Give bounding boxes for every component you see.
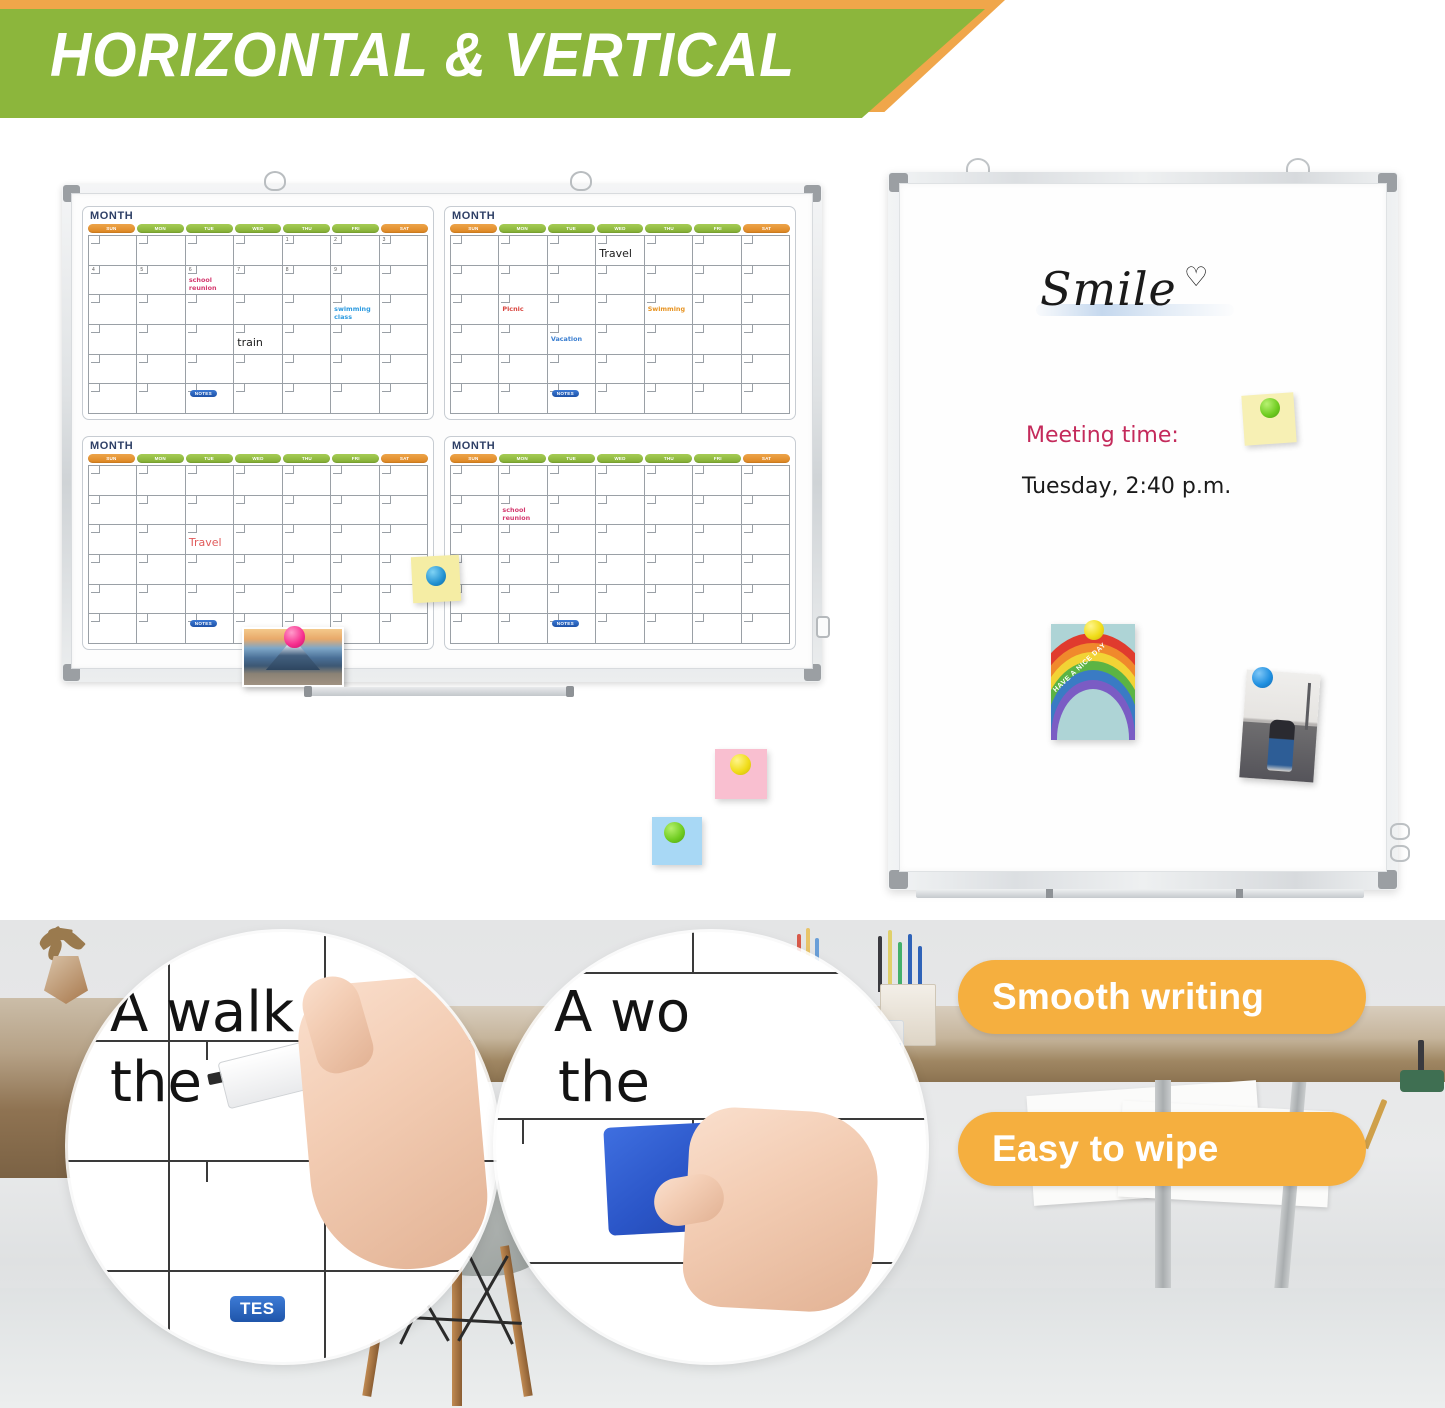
- date-number: [333, 325, 342, 333]
- date-number: 8: [285, 266, 294, 274]
- date-number: [91, 585, 100, 593]
- date-number: [139, 496, 148, 504]
- calendar-cell[interactable]: [645, 236, 693, 266]
- calendar-cell[interactable]: [742, 555, 790, 585]
- date-number: [550, 585, 559, 593]
- date-number: [647, 496, 656, 504]
- calendar-cell[interactable]: [380, 266, 428, 296]
- calendar-cell[interactable]: [331, 384, 379, 414]
- date-number: [285, 555, 294, 563]
- day-pill-wed: WED: [235, 454, 282, 463]
- date-number: [550, 555, 559, 563]
- day-pill-thu: THU: [283, 224, 330, 233]
- calendar-cell[interactable]: [548, 295, 596, 325]
- calendar-cell[interactable]: [693, 325, 741, 355]
- calendar-cell[interactable]: [331, 325, 379, 355]
- calendar-cell[interactable]: [596, 384, 644, 414]
- calendar-cell[interactable]: [380, 355, 428, 385]
- date-number: [453, 496, 462, 504]
- note-meeting-label: Meeting time:: [1026, 423, 1179, 448]
- date-number: [382, 325, 391, 333]
- calendar-grid: school reunion: [450, 465, 790, 644]
- day-pill-thu: THU: [645, 454, 692, 463]
- day-header-row: SUNMONTUEWEDTHUFRISAT: [88, 224, 428, 233]
- date-number: 4: [91, 266, 100, 274]
- calendar-entry: Swimming: [648, 305, 690, 313]
- date-number: [501, 525, 510, 533]
- calendar-cell[interactable]: [693, 614, 741, 644]
- calendar-cell[interactable]: Swimming: [645, 295, 693, 325]
- calendar-cell[interactable]: [89, 355, 137, 385]
- calendar-cell[interactable]: [645, 325, 693, 355]
- calendar-cell[interactable]: [380, 325, 428, 355]
- calendar-cell[interactable]: [137, 466, 185, 496]
- magnet-blue: [426, 566, 446, 586]
- cal-bottom-right: MONTHSUNMONTUEWEDTHUFRISATschool reunion…: [444, 436, 796, 650]
- calendar-cell[interactable]: [137, 614, 185, 644]
- day-pill-sun: SUN: [88, 454, 135, 463]
- calendar-cell[interactable]: [380, 525, 428, 555]
- pen-tray: [310, 687, 568, 696]
- calendar-cell[interactable]: [186, 496, 234, 526]
- date-number: [453, 236, 462, 244]
- calendar-cell[interactable]: [596, 525, 644, 555]
- calendar-cell[interactable]: [331, 585, 379, 615]
- calendar-cell[interactable]: [234, 555, 282, 585]
- day-pill-sun: SUN: [450, 454, 497, 463]
- grid-tick: [168, 1160, 208, 1162]
- day-pill-tue: TUE: [186, 454, 233, 463]
- magnet-green: [664, 822, 685, 843]
- calendar-cell[interactable]: [89, 236, 137, 266]
- calendar-cell[interactable]: [186, 555, 234, 585]
- date-number: [91, 496, 100, 504]
- badge-smooth-writing: Smooth writing: [958, 960, 1366, 1034]
- date-number: [333, 295, 342, 303]
- calendar-cell[interactable]: [451, 236, 499, 266]
- day-pill-fri: FRI: [332, 454, 379, 463]
- calendar-cell[interactable]: [89, 525, 137, 555]
- calendar-cell[interactable]: [596, 295, 644, 325]
- vb-pen-tray: [916, 889, 1364, 898]
- date-number: [91, 236, 100, 244]
- pen: [888, 930, 892, 992]
- calendar-cell[interactable]: [451, 355, 499, 385]
- calendar-cell[interactable]: [380, 466, 428, 496]
- calendar-cell[interactable]: Vacation: [548, 325, 596, 355]
- date-number: [236, 525, 245, 533]
- calendar-entry: Travel: [189, 537, 231, 549]
- date-number: [744, 555, 753, 563]
- calendar-cell[interactable]: [548, 585, 596, 615]
- date-number: [285, 384, 294, 392]
- handwriting-line-2: the: [110, 1050, 202, 1115]
- date-number: [598, 236, 607, 244]
- header-ribbon: HORIZONTAL & VERTICAL: [0, 0, 1100, 122]
- vb-side-ring-lower: [1390, 845, 1410, 862]
- date-number: [188, 525, 197, 533]
- date-number: [453, 295, 462, 303]
- calendar-cell[interactable]: [283, 466, 331, 496]
- date-number: [598, 466, 607, 474]
- date-number: [744, 266, 753, 274]
- date-number: [695, 384, 704, 392]
- badge-smooth-writing-label: Smooth writing: [992, 976, 1264, 1018]
- calendar-month-label: MONTH: [452, 440, 495, 452]
- calendar-cell[interactable]: [451, 266, 499, 296]
- day-pill-sat: SAT: [381, 224, 428, 233]
- calendar-cell[interactable]: [499, 355, 547, 385]
- date-number: 6: [188, 266, 197, 274]
- date-number: [382, 585, 391, 593]
- calendar-cell[interactable]: [596, 466, 644, 496]
- calendar-cell[interactable]: [693, 384, 741, 414]
- calendar-cell[interactable]: [548, 496, 596, 526]
- calendar-cell[interactable]: Travel: [186, 525, 234, 555]
- calendar-cell[interactable]: [645, 466, 693, 496]
- calendar-cell[interactable]: [645, 614, 693, 644]
- calendar-cell[interactable]: [234, 585, 282, 615]
- calendar-cell[interactable]: school reunion: [499, 496, 547, 526]
- calendar-cell[interactable]: [234, 295, 282, 325]
- date-number: [285, 325, 294, 333]
- date-number: [453, 355, 462, 363]
- calendar-cell[interactable]: [742, 325, 790, 355]
- floor-lamp: [1305, 682, 1311, 730]
- calendar-cell[interactable]: [283, 496, 331, 526]
- calendar-cell[interactable]: [548, 555, 596, 585]
- calendar-cell[interactable]: [186, 466, 234, 496]
- date-number: [501, 325, 510, 333]
- day-pill-wed: WED: [597, 224, 644, 233]
- date-number: [501, 266, 510, 274]
- calendar-cell[interactable]: [451, 384, 499, 414]
- calendar-cell[interactable]: 4: [89, 266, 137, 296]
- date-number: [598, 585, 607, 593]
- calendar-cell[interactable]: Travel: [596, 236, 644, 266]
- calendar-cell[interactable]: [234, 496, 282, 526]
- calendar-cell[interactable]: [499, 555, 547, 585]
- calendar-cell[interactable]: [89, 384, 137, 414]
- calendar-cell[interactable]: [89, 555, 137, 585]
- calendar-cell[interactable]: [499, 384, 547, 414]
- calendar-cell[interactable]: [89, 585, 137, 615]
- day-pill-tue: TUE: [186, 224, 233, 233]
- date-number: [744, 355, 753, 363]
- date-number: [744, 614, 753, 622]
- date-number: [333, 496, 342, 504]
- calendar-cell[interactable]: [645, 525, 693, 555]
- date-number: 9: [333, 266, 342, 274]
- calendar-cell[interactable]: [234, 466, 282, 496]
- calendar-cell[interactable]: [451, 496, 499, 526]
- calendar-cell[interactable]: [331, 525, 379, 555]
- date-number: [333, 466, 342, 474]
- calendar-cell[interactable]: [186, 384, 234, 414]
- day-pill-mon: MON: [499, 454, 546, 463]
- calendar-cell[interactable]: [742, 355, 790, 385]
- calendar-cell[interactable]: [283, 555, 331, 585]
- calendar-cell[interactable]: [186, 585, 234, 615]
- calendar-cell[interactable]: 8: [283, 266, 331, 296]
- date-number: [744, 295, 753, 303]
- grid-line: [692, 932, 694, 974]
- day-pill-sun: SUN: [88, 224, 135, 233]
- date-number: [236, 355, 245, 363]
- calendar-entry: Travel: [599, 248, 641, 260]
- date-number: [453, 466, 462, 474]
- calendar-cell[interactable]: [548, 266, 596, 296]
- calendar-cell[interactable]: [693, 295, 741, 325]
- date-number: [695, 555, 704, 563]
- calendar-cell[interactable]: [693, 466, 741, 496]
- calendar-cell[interactable]: [742, 266, 790, 296]
- calendar-cell[interactable]: [693, 236, 741, 266]
- date-number: [744, 496, 753, 504]
- calendar-cell[interactable]: 2: [331, 236, 379, 266]
- calendar-cell[interactable]: [137, 355, 185, 385]
- calendar-cell[interactable]: [742, 295, 790, 325]
- calendar-cell[interactable]: [693, 355, 741, 385]
- date-number: [501, 614, 510, 622]
- date-number: [744, 585, 753, 593]
- date-number: [382, 555, 391, 563]
- calendar-cell[interactable]: [331, 555, 379, 585]
- date-number: [382, 355, 391, 363]
- calendar-cell[interactable]: [693, 266, 741, 296]
- calendar-cell[interactable]: [186, 325, 234, 355]
- calendar-cell[interactable]: [380, 496, 428, 526]
- calendar-cell[interactable]: [283, 585, 331, 615]
- calendar-cell[interactable]: [380, 384, 428, 414]
- calendar-cell[interactable]: [89, 295, 137, 325]
- date-number: [285, 295, 294, 303]
- calendar-cell[interactable]: [693, 585, 741, 615]
- calendar-cell[interactable]: [380, 295, 428, 325]
- calendar-grid: TravelPicnicSwimmingVacation: [450, 235, 790, 414]
- calendar-cell[interactable]: [548, 525, 596, 555]
- calendar-cell[interactable]: [283, 525, 331, 555]
- calendar-cell[interactable]: swimming class: [331, 295, 379, 325]
- calendar-cell[interactable]: [548, 614, 596, 644]
- calendar-cell[interactable]: [499, 525, 547, 555]
- day-pill-mon: MON: [499, 224, 546, 233]
- calendar-cell[interactable]: [89, 614, 137, 644]
- calendar-cell[interactable]: [451, 325, 499, 355]
- calendar-cell[interactable]: [451, 614, 499, 644]
- date-number: [501, 466, 510, 474]
- date-number: [453, 266, 462, 274]
- calendar-cell[interactable]: [186, 614, 234, 644]
- calendar-cell[interactable]: [234, 355, 282, 385]
- calendar-cell[interactable]: 3: [380, 236, 428, 266]
- date-number: [598, 555, 607, 563]
- calendar-cell[interactable]: [645, 355, 693, 385]
- day-pill-sat: SAT: [743, 224, 790, 233]
- calendar-cell[interactable]: 5: [137, 266, 185, 296]
- badge-easy-to-wipe: Easy to wipe: [958, 1112, 1366, 1186]
- grid-line: [496, 972, 926, 974]
- calendar-month-label: MONTH: [90, 210, 133, 222]
- calendar-cell[interactable]: [89, 496, 137, 526]
- calendar-cell[interactable]: [499, 614, 547, 644]
- calendar-cell[interactable]: [331, 466, 379, 496]
- date-number: [91, 555, 100, 563]
- calendar-cell[interactable]: [645, 496, 693, 526]
- calendar-cell[interactable]: [89, 466, 137, 496]
- calendar-cell[interactable]: [331, 355, 379, 385]
- badge-easy-to-wipe-label: Easy to wipe: [992, 1128, 1219, 1170]
- calendar-cell[interactable]: [234, 236, 282, 266]
- date-number: [695, 525, 704, 533]
- calendar-cell[interactable]: train: [234, 325, 282, 355]
- calendar-cell[interactable]: Picnic: [499, 295, 547, 325]
- calendar-cell[interactable]: [645, 585, 693, 615]
- calendar-cell[interactable]: [137, 496, 185, 526]
- calendar-cell[interactable]: [186, 236, 234, 266]
- calendar-cell[interactable]: [234, 525, 282, 555]
- calendar-cell[interactable]: 7: [234, 266, 282, 296]
- calendar-cell[interactable]: [742, 614, 790, 644]
- day-pill-sun: SUN: [450, 224, 497, 233]
- calendar-cell[interactable]: [137, 555, 185, 585]
- calendar-cell[interactable]: [548, 384, 596, 414]
- calendar-cell[interactable]: 9: [331, 266, 379, 296]
- date-number: 3: [382, 236, 391, 244]
- calendar-cell[interactable]: [380, 614, 428, 644]
- date-number: [139, 585, 148, 593]
- calendar-cell[interactable]: [693, 525, 741, 555]
- date-number: [598, 525, 607, 533]
- calendar-cell[interactable]: [693, 496, 741, 526]
- calendar-cell[interactable]: [742, 525, 790, 555]
- calendar-cell[interactable]: [283, 325, 331, 355]
- calendar-cell[interactable]: 1: [283, 236, 331, 266]
- date-number: [333, 355, 342, 363]
- date-number: 1: [285, 236, 294, 244]
- calendar-grid: Travel: [88, 465, 428, 644]
- calendar-cell[interactable]: [596, 266, 644, 296]
- calendar-cell[interactable]: [283, 384, 331, 414]
- calendar-cell[interactable]: [742, 466, 790, 496]
- day-header-row: SUNMONTUEWEDTHUFRISAT: [450, 454, 790, 463]
- calendar-entry: train: [237, 337, 279, 349]
- date-number: [744, 466, 753, 474]
- calendar-cell[interactable]: [548, 236, 596, 266]
- calendar-cell[interactable]: [742, 236, 790, 266]
- calendar-cell[interactable]: [186, 295, 234, 325]
- vb-side-ring-upper: [1390, 823, 1410, 840]
- date-number: [598, 355, 607, 363]
- day-pill-fri: FRI: [694, 224, 741, 233]
- calendar-cell[interactable]: [742, 496, 790, 526]
- date-number: [550, 355, 559, 363]
- calendar-cell[interactable]: [596, 555, 644, 585]
- calendar-cell[interactable]: [548, 466, 596, 496]
- calendar-cell[interactable]: [548, 355, 596, 385]
- calendar-cell[interactable]: [596, 325, 644, 355]
- calendar-cell[interactable]: [234, 384, 282, 414]
- date-number: [744, 384, 753, 392]
- date-number: [598, 384, 607, 392]
- date-number: [139, 325, 148, 333]
- calendar-cell[interactable]: [742, 384, 790, 414]
- calendar-cell[interactable]: [137, 295, 185, 325]
- calendar-cell[interactable]: [89, 325, 137, 355]
- calendar-cell[interactable]: [137, 236, 185, 266]
- calendar-cell[interactable]: [451, 295, 499, 325]
- calendar-entry: Picnic: [502, 305, 544, 313]
- calendar-cell[interactable]: [596, 355, 644, 385]
- calendar-cell[interactable]: [645, 555, 693, 585]
- date-number: [382, 466, 391, 474]
- date-number: [744, 325, 753, 333]
- date-number: [647, 555, 656, 563]
- date-number: [695, 614, 704, 622]
- date-number: [695, 266, 704, 274]
- date-number: [91, 325, 100, 333]
- calendar-cell[interactable]: [596, 585, 644, 615]
- calendar-cell[interactable]: [499, 236, 547, 266]
- date-number: [188, 236, 197, 244]
- day-pill-wed: WED: [597, 454, 644, 463]
- calendar-cell[interactable]: [596, 496, 644, 526]
- calendar-cell[interactable]: [137, 325, 185, 355]
- calendar-cell[interactable]: [137, 384, 185, 414]
- date-number: [647, 585, 656, 593]
- calendar-cell[interactable]: [499, 466, 547, 496]
- date-number: [333, 585, 342, 593]
- calendar-cell[interactable]: [186, 355, 234, 385]
- day-pill-thu: THU: [283, 454, 330, 463]
- date-number: [695, 295, 704, 303]
- date-number: [188, 555, 197, 563]
- calendar-cell[interactable]: [137, 525, 185, 555]
- note-meeting-time: Tuesday, 2:40 p.m.: [1022, 474, 1231, 499]
- cal-top-left: MONTHSUNMONTUEWEDTHUFRISAT123456school r…: [82, 206, 434, 420]
- calendar-cell[interactable]: [499, 585, 547, 615]
- calendar-cell[interactable]: [283, 295, 331, 325]
- calendar-cell[interactable]: [451, 466, 499, 496]
- calendar-cell[interactable]: [693, 555, 741, 585]
- calendar-cell[interactable]: [283, 355, 331, 385]
- calendar-cell[interactable]: [331, 496, 379, 526]
- calendar-grid: 123456school reunion789swimming classtra…: [88, 235, 428, 414]
- calendar-cell[interactable]: [499, 325, 547, 355]
- calendar-cell[interactable]: [645, 266, 693, 296]
- date-number: [647, 295, 656, 303]
- date-number: [695, 236, 704, 244]
- date-number: [236, 236, 245, 244]
- calendar-entry: Vacation: [551, 335, 593, 343]
- date-number: [598, 614, 607, 622]
- date-number: [647, 525, 656, 533]
- calendar-cell[interactable]: [499, 266, 547, 296]
- calendar-cell[interactable]: [742, 585, 790, 615]
- date-number: [550, 266, 559, 274]
- calendar-cell[interactable]: [645, 384, 693, 414]
- calendar-cell[interactable]: [137, 585, 185, 615]
- calendar-entry: school reunion: [189, 276, 231, 292]
- date-number: [647, 384, 656, 392]
- calendar-cell[interactable]: [596, 614, 644, 644]
- calendar-cell[interactable]: 6school reunion: [186, 266, 234, 296]
- calendar-cell[interactable]: [451, 525, 499, 555]
- date-number: [550, 466, 559, 474]
- date-number: [647, 355, 656, 363]
- date-number: [91, 295, 100, 303]
- date-number: [501, 384, 510, 392]
